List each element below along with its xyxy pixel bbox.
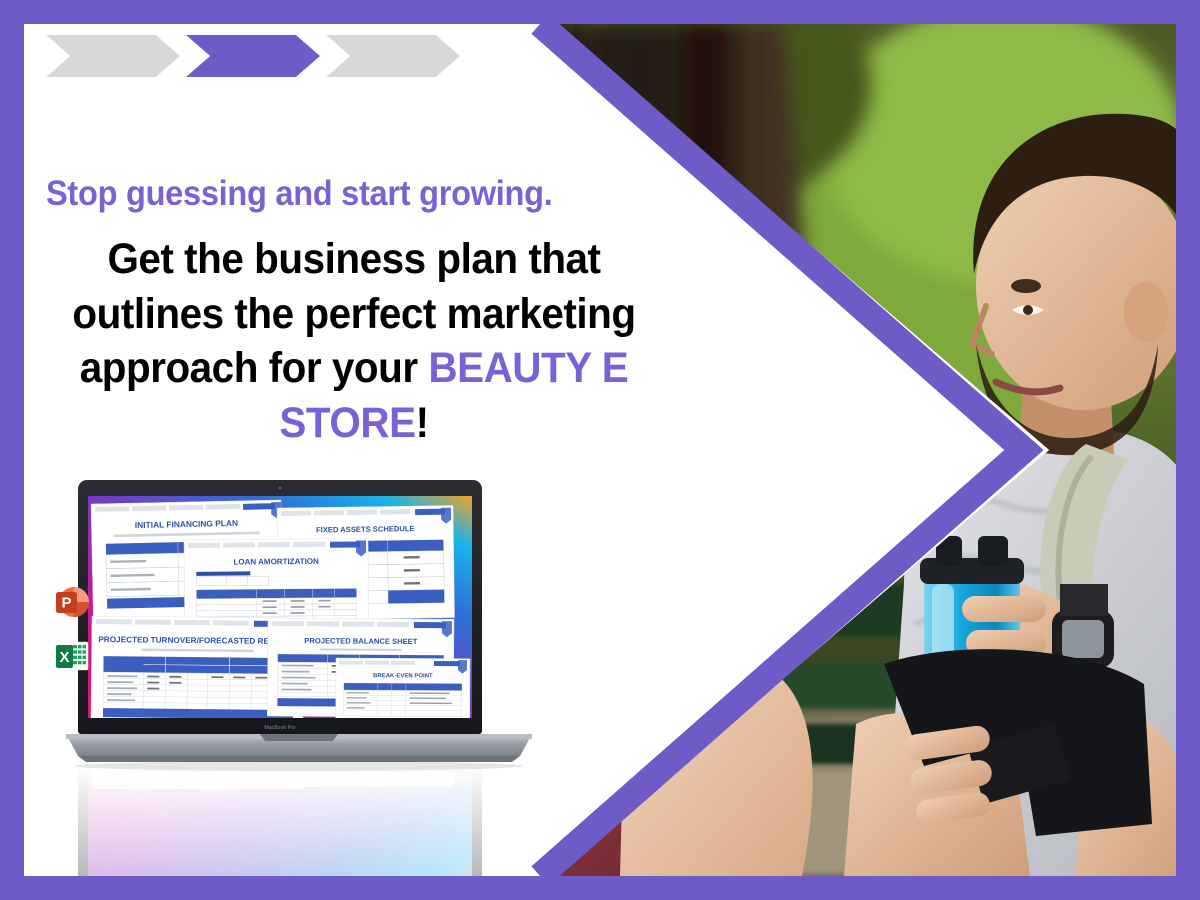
laptop-mockup: INITIAL FINANCING PLAN (64, 476, 534, 776)
progress-step-1[interactable] (46, 35, 180, 77)
progress-chevrons[interactable] (46, 35, 460, 77)
svg-text:PROJECTED BALANCE SHEET: PROJECTED BALANCE SHEET (304, 636, 417, 646)
excel-icon[interactable]: X (52, 636, 92, 676)
laptop-illustration: INITIAL FINANCING PLAN (64, 476, 534, 776)
progress-step-2[interactable] (186, 35, 320, 77)
svg-text:X: X (59, 649, 69, 666)
headline-text: Get the business plan that outlines the … (44, 232, 664, 450)
file-type-icons: P X (52, 582, 96, 690)
svg-text:FIXED ASSETS SCHEDULE: FIXED ASSETS SCHEDULE (316, 524, 415, 534)
laptop-reflection: MacBook Pro (64, 759, 534, 876)
headline-part2: ! (416, 399, 429, 447)
laptop-model-label: MacBook Pro (264, 725, 295, 731)
slide-root: Stop guessing and start growing. Get the… (0, 0, 1200, 900)
svg-text:BREAK-EVEN POINT: BREAK-EVEN POINT (373, 673, 433, 679)
svg-text:LOAN AMORTIZATION: LOAN AMORTIZATION (233, 557, 319, 567)
powerpoint-icon[interactable]: P (52, 582, 92, 622)
text-block: Stop guessing and start growing. Get the… (24, 174, 704, 450)
slide-canvas: Stop guessing and start growing. Get the… (24, 24, 1176, 876)
kicker-text: Stop guessing and start growing. (46, 174, 658, 214)
progress-step-3[interactable] (326, 35, 460, 77)
svg-text:P: P (61, 595, 71, 612)
